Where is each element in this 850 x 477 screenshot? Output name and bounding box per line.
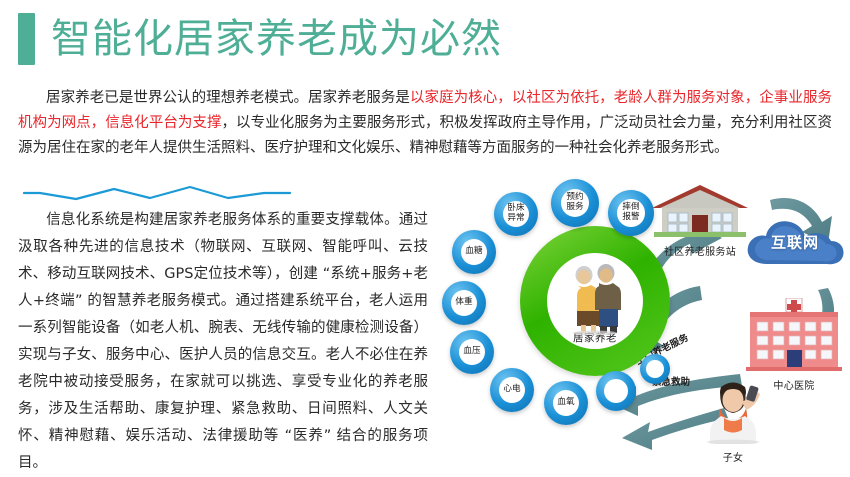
bubble-label: 摔倒 报警: [622, 203, 639, 222]
community-station-icon: [648, 182, 752, 238]
bubble-label: 心电: [503, 385, 520, 395]
bubble-label: 血糖: [465, 247, 482, 257]
ring-inner-white: 居家养老: [547, 253, 643, 349]
bubble-label: 卧床 异常: [507, 204, 524, 223]
bubble-label: 体重: [455, 298, 472, 308]
page-title-row: 智能化居家养老成为必然: [0, 8, 850, 70]
home-care-ecosystem-diagram: 上门养老服务 紧急救助: [440, 178, 850, 458]
bubble-blood-oxygen[interactable]: 血氧: [544, 381, 588, 425]
intro-paragraph: 居家养老已是世界公认的理想养老模式。居家养老服务是以家庭为核心，以社区为依托，老…: [18, 86, 832, 161]
cloud-label: 互联网: [743, 231, 847, 252]
bubble-blood-pressure[interactable]: 血压: [450, 330, 494, 374]
daughter-on-phone-icon: [690, 378, 776, 444]
page-title: 智能化居家养老成为必然: [51, 13, 502, 65]
body-paragraph: 信息化系统是构建居家养老服务体系的重要支撑载体。通过汲取各种先进的信息技术（物联…: [18, 207, 428, 477]
intro-segment-1: 居家养老已是世界公认的理想养老模式。居家养老服务是: [46, 90, 410, 106]
body-text: 信息化系统是构建居家养老服务体系的重要支撑载体。通过汲取各种先进的信息技术（物联…: [18, 212, 428, 471]
bubble-label: 血压: [463, 347, 480, 357]
title-accent-bar: [18, 13, 35, 65]
bubble-blood-glucose[interactable]: 血糖: [452, 230, 496, 274]
bubble-label: 血氧: [557, 398, 574, 408]
hospital-icon: [740, 298, 848, 372]
node-internet-cloud[interactable]: 互联网: [740, 216, 850, 270]
bubble-appointment-service[interactable]: 预约 服务: [551, 179, 599, 227]
wave-divider-icon: [22, 180, 292, 202]
bubble-blank-1[interactable]: [596, 371, 636, 411]
node-caption: 子女: [678, 449, 788, 464]
slide-page: 智能化居家养老成为必然 居家养老已是世界公认的理想养老模式。居家养老服务是以家庭…: [0, 0, 850, 458]
node-children[interactable]: 子女: [678, 378, 788, 464]
elderly-couple-icon: [563, 263, 627, 335]
bubble-weight[interactable]: 体重: [442, 281, 486, 325]
bubble-ecg[interactable]: 心电: [490, 368, 534, 412]
bubble-blank-2[interactable]: [640, 354, 670, 384]
bubble-label: 预约 服务: [566, 193, 583, 212]
bubble-bedridden-alert[interactable]: 卧床 异常: [494, 192, 538, 236]
